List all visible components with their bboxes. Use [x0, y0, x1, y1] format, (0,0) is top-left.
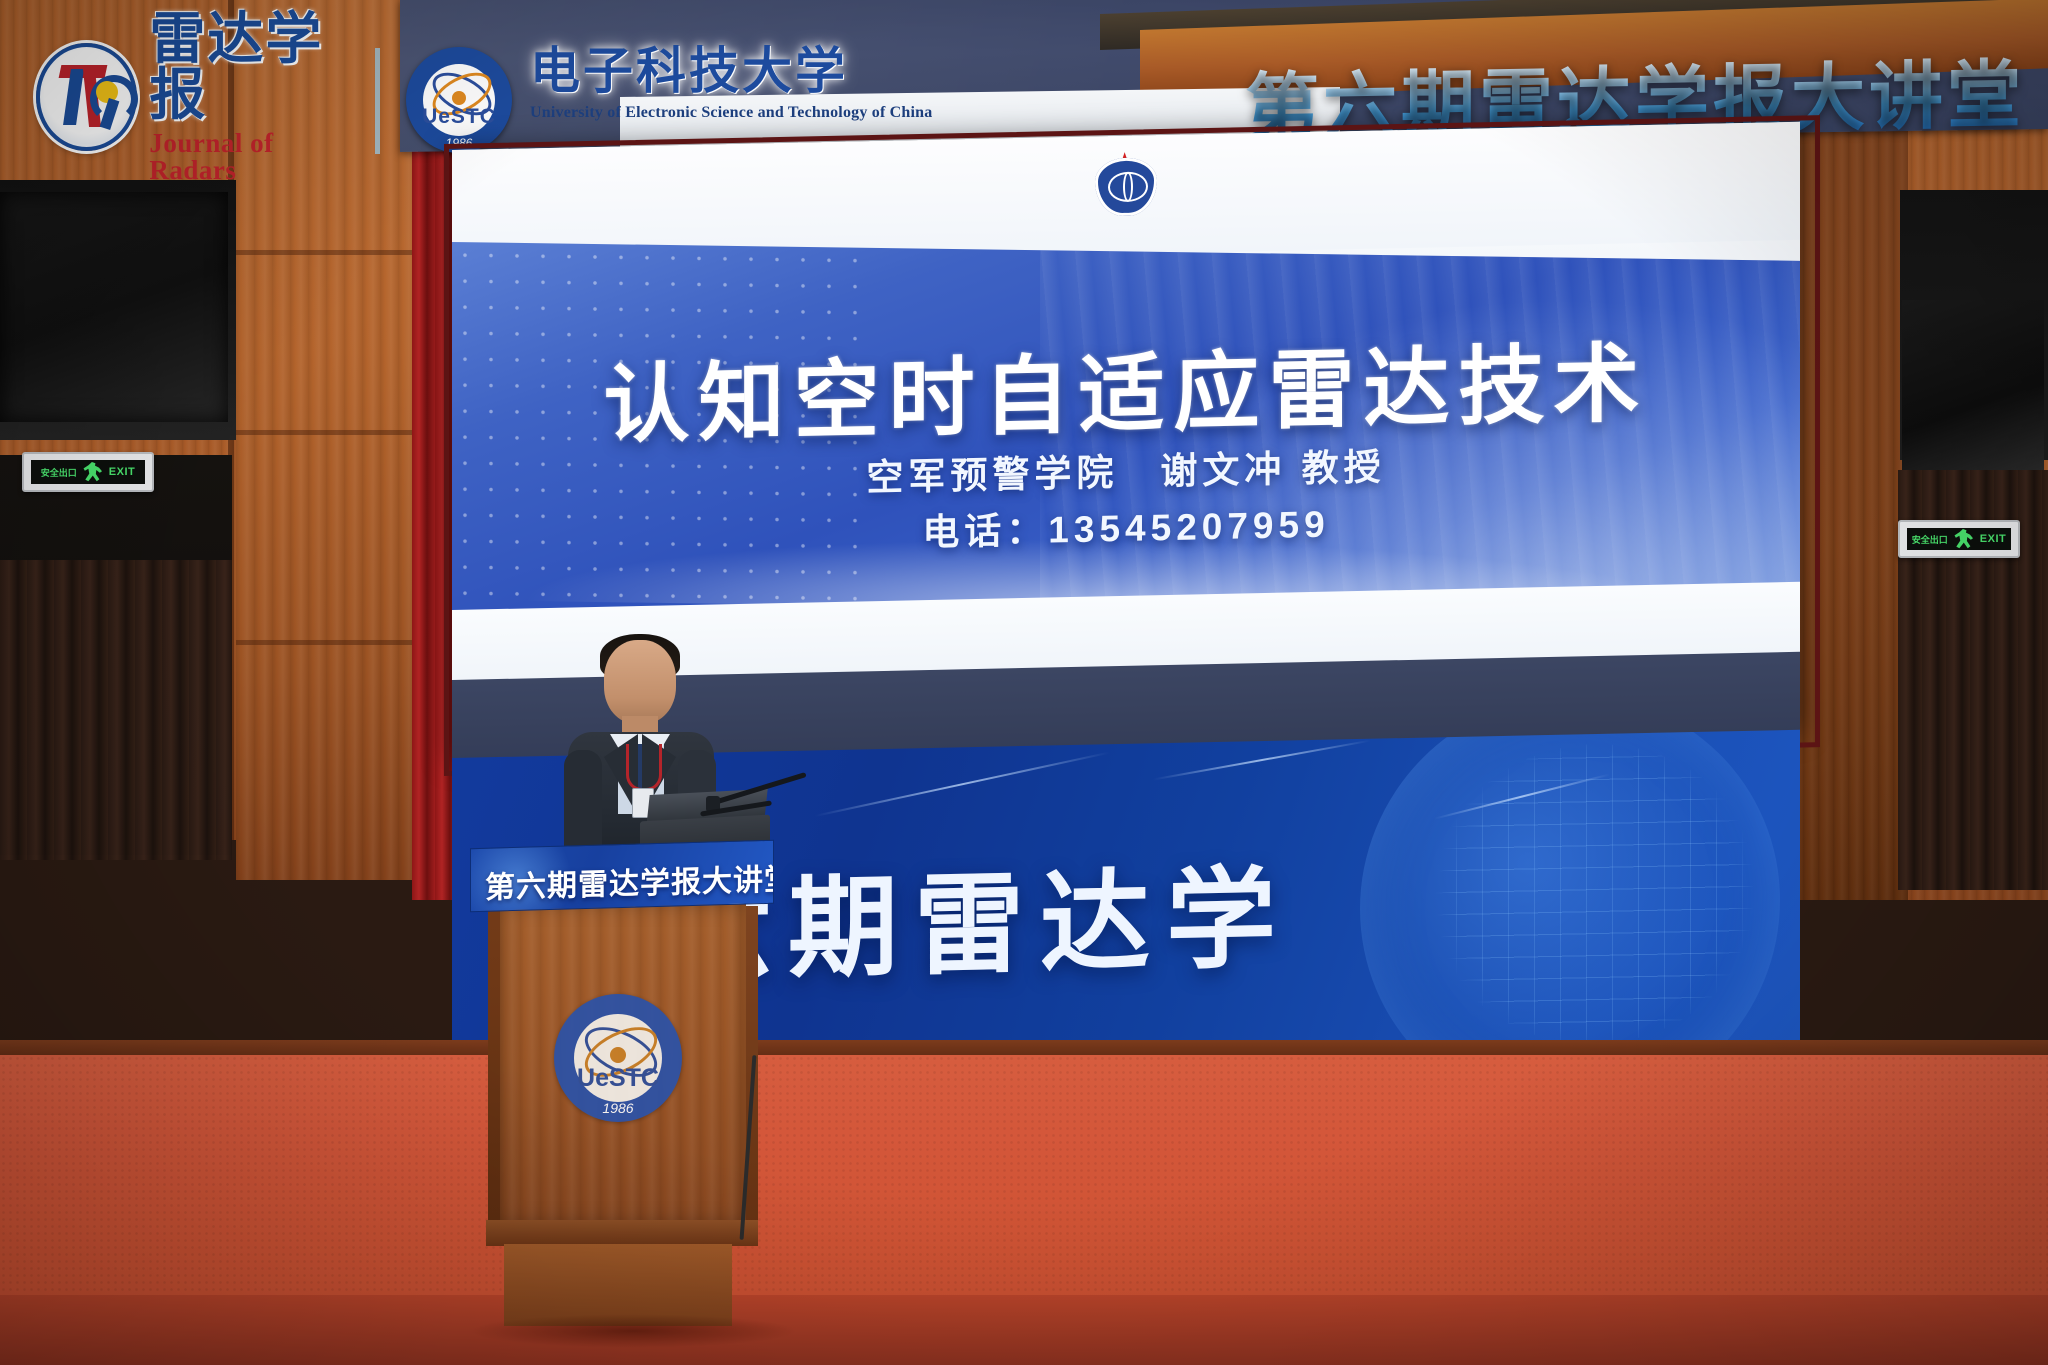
wall-monitor-right-icon	[1902, 300, 2044, 470]
curtain-left	[0, 560, 232, 860]
pillar-band	[236, 430, 416, 435]
presenter-head	[604, 640, 676, 724]
pillar-band	[236, 250, 416, 255]
university-name-en: University of Electronic Science and Tec…	[530, 104, 1000, 122]
journal-name-cn: 雷达学报	[149, 11, 366, 123]
journal-of-radars-logo: 雷达学报 Journal of Radars	[36, 42, 366, 152]
running-man-exit-icon	[82, 462, 104, 482]
university-name-cn: 电子科技大学	[530, 46, 1000, 96]
podium-banner-text: 第六期雷达学报大讲堂	[485, 854, 774, 907]
carpet-front-edge	[0, 1295, 2048, 1365]
light-streak	[1153, 740, 1371, 781]
podium-seal-abbr: UeSTC	[554, 1064, 682, 1093]
conference-hall-photo: 雷达学报 Journal of Radars UeSTC 1986 电子科技大学…	[0, 0, 2048, 1365]
light-streak	[815, 752, 1110, 817]
podium-seal-year: 1986	[554, 1100, 682, 1116]
lanyard-cord	[626, 744, 662, 791]
exit-sign-right-cn: 安全出口	[1912, 533, 1948, 546]
wall-monitor-left-icon	[0, 192, 228, 422]
journal-name-block: 雷达学报 Journal of Radars	[149, 11, 366, 184]
podium: UeSTC 1986 第六期雷达学报大讲堂	[482, 862, 762, 1332]
exit-sign-right: 安全出口 EXIT	[1898, 520, 2020, 558]
podium-shadow	[468, 1314, 798, 1348]
vertical-divider-icon	[375, 48, 380, 154]
uestc-seal-icon: UeSTC 1986	[554, 994, 682, 1122]
pillar-band	[236, 640, 416, 645]
exit-sign-left-en: EXIT	[109, 466, 135, 478]
university-name-block: 电子科技大学 University of Electronic Science …	[530, 46, 1000, 122]
uestc-atom-logo-icon: UeSTC 1986	[406, 47, 512, 153]
running-man-exit-icon	[1953, 529, 1975, 549]
podium-base	[486, 1220, 758, 1246]
exit-sign-right-en: EXIT	[1980, 533, 2006, 545]
uestc-logo-abbr: UeSTC	[406, 105, 512, 129]
podium-banner: 第六期雷达学报大讲堂	[470, 840, 774, 912]
exit-sign-left-cn: 安全出口	[41, 466, 77, 479]
journal-name-en: Journal of Radars	[149, 130, 366, 184]
exit-sign-left: 安全出口 EXIT	[22, 452, 154, 492]
journal-of-radars-logo-icon	[36, 43, 137, 151]
